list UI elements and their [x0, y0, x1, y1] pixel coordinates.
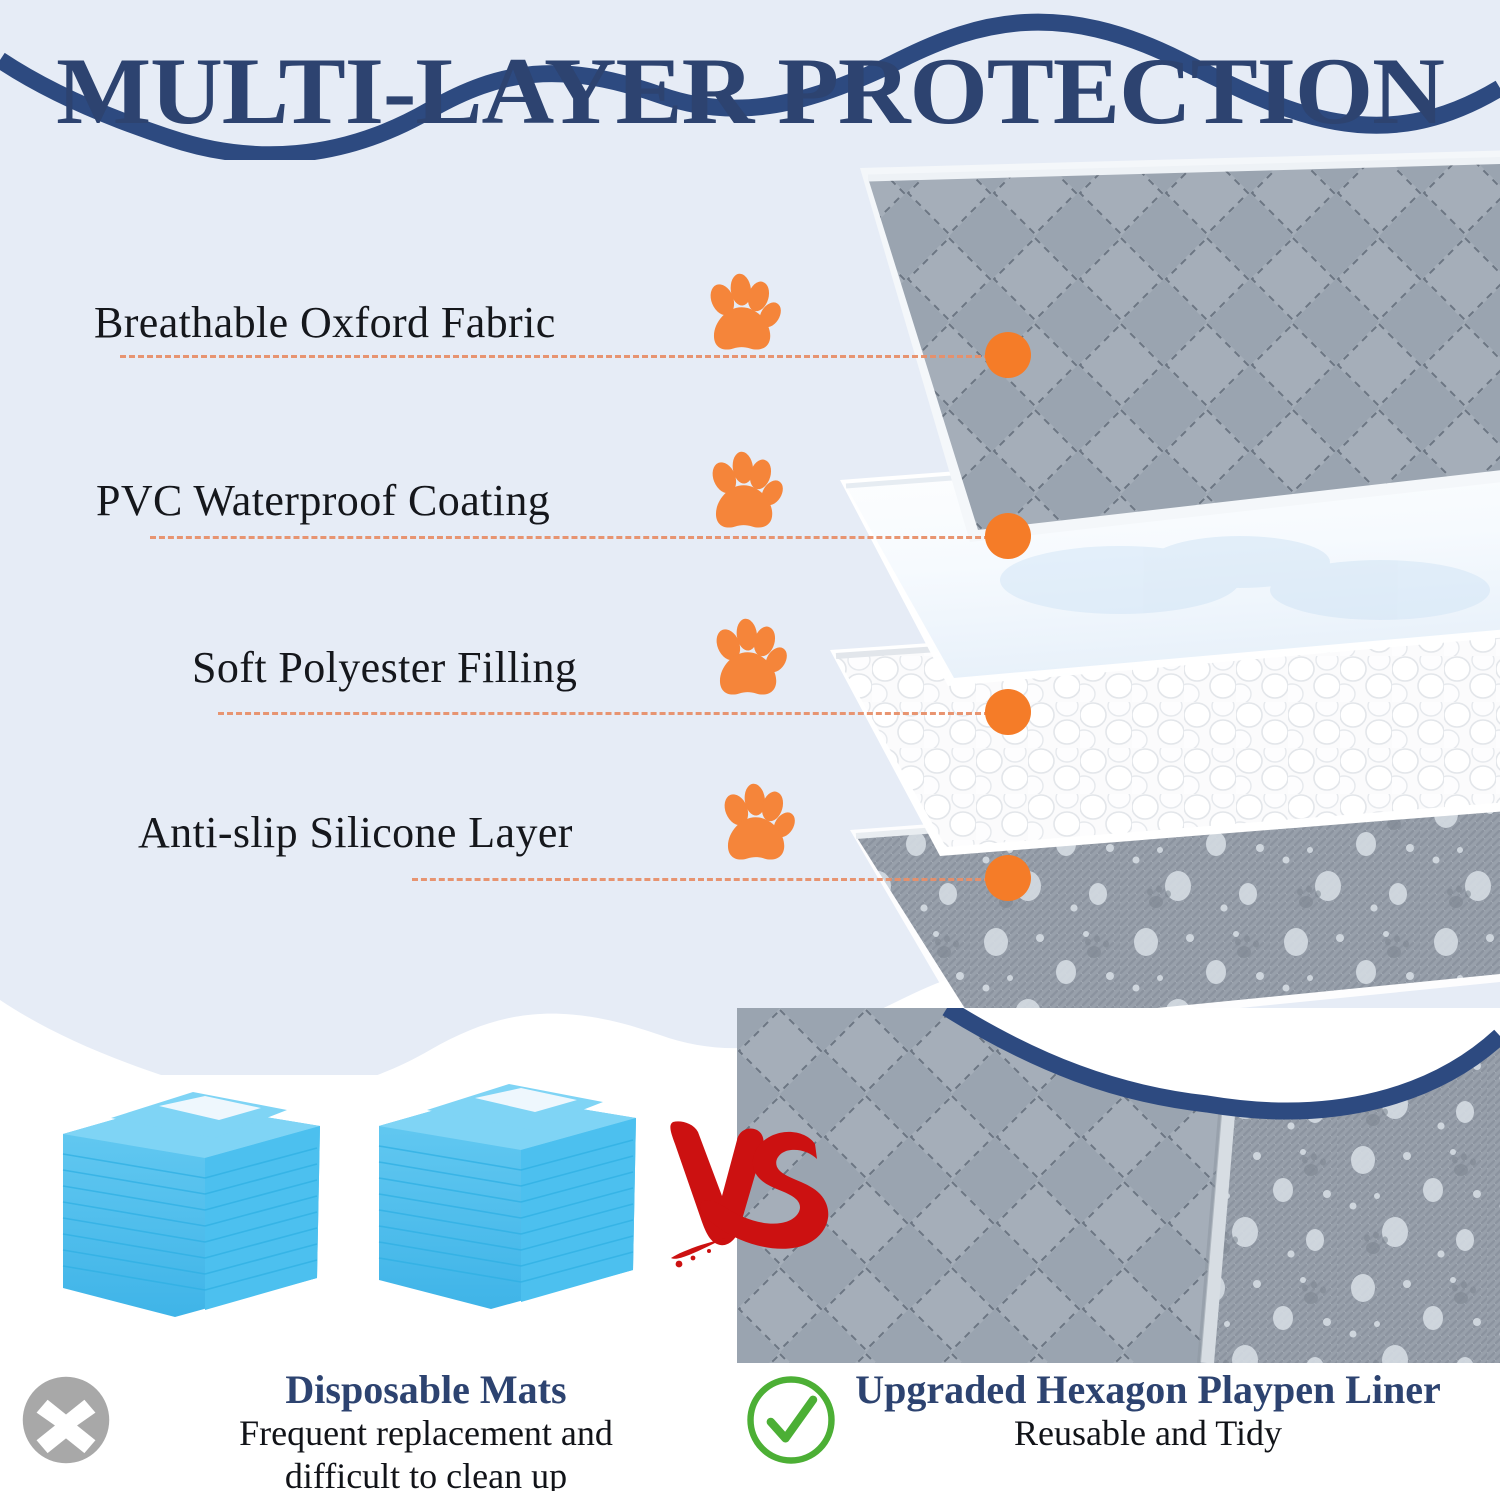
- comparison-left-title: Disposable Mats: [118, 1368, 734, 1411]
- x-circle-icon: [20, 1374, 112, 1466]
- leader-line-pvc: [150, 536, 990, 539]
- orange-dot-filling[interactable]: [985, 689, 1031, 735]
- layer-label-filling: Soft Polyester Filling: [192, 642, 577, 693]
- pad-stack: [379, 1084, 636, 1309]
- comparison-right: Upgraded Hexagon Playpen Liner Reusable …: [745, 1368, 1465, 1488]
- comparison-left: Disposable Mats Frequent replacement and…: [20, 1368, 740, 1488]
- paw-icon: [704, 617, 788, 701]
- comparison-left-text: Disposable Mats Frequent replacement and…: [112, 1368, 740, 1491]
- layer-row-silicone: Anti-slip Silicone Layer: [138, 790, 828, 880]
- layer-label-pvc: PVC Waterproof Coating: [96, 475, 550, 526]
- comparison-right-desc: Reusable and Tidy: [837, 1413, 1459, 1453]
- comparison-right-text: Upgraded Hexagon Playpen Liner Reusable …: [831, 1368, 1465, 1454]
- leader-line-silicone: [412, 878, 990, 881]
- comparison-right-title: Upgraded Hexagon Playpen Liner: [837, 1368, 1459, 1411]
- orange-dot-pvc[interactable]: [985, 513, 1031, 559]
- orange-dot-oxford[interactable]: [985, 332, 1031, 378]
- product-photo-liner: [737, 1008, 1500, 1363]
- paw-icon: [712, 782, 796, 866]
- layered-mat-illustration: [820, 150, 1500, 1030]
- comparison-left-desc-line1: Frequent replacement and: [118, 1413, 734, 1453]
- mat-layer-oxford: [860, 150, 1500, 542]
- vs-label: [665, 1118, 840, 1283]
- layer-row-pvc: PVC Waterproof Coating: [96, 458, 816, 548]
- layer-label-silicone: Anti-slip Silicone Layer: [138, 807, 573, 858]
- orange-dot-silicone[interactable]: [985, 855, 1031, 901]
- layer-row-filling: Soft Polyester Filling: [192, 625, 822, 715]
- paw-icon: [700, 450, 784, 534]
- check-circle-icon: [745, 1374, 837, 1466]
- leader-line-oxford: [120, 355, 990, 358]
- disposable-pads-image: [55, 1082, 665, 1317]
- paw-icon: [698, 272, 782, 356]
- page-title: MULTI-LAYER PROTECTION: [0, 44, 1500, 139]
- layer-label-oxford: Breathable Oxford Fabric: [94, 297, 556, 348]
- leader-line-filling: [218, 712, 990, 715]
- infographic-stage: MULTI-LAYER PROTECTION: [0, 0, 1500, 1491]
- pad-stack: [63, 1092, 320, 1317]
- comparison-left-desc-line2: difficult to clean up: [118, 1456, 734, 1491]
